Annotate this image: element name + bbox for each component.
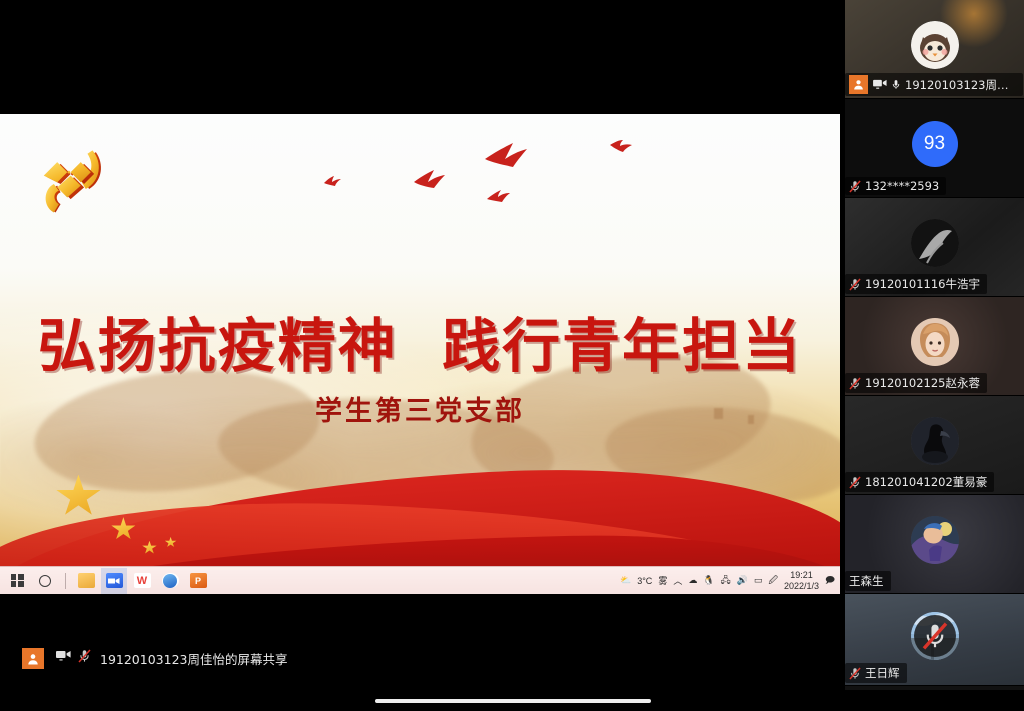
tray-temperature: 3°C [637,576,652,586]
taskbar-clock[interactable]: 19:21 2022/1/3 [784,570,819,591]
participant-tile[interactable]: 王日辉 [845,594,1024,686]
participant-namebar: 132****2593 [845,177,946,195]
screen-share-icon [56,650,71,668]
participant-name: 132****2593 [865,179,939,193]
participant-namebar: 19120102125赵永蓉 [845,373,987,393]
windows-taskbar[interactable]: W P ⛅ 3°C 雾 ︿ ☁ [0,566,840,594]
onedrive-icon[interactable]: ☁ [688,575,697,586]
participant-namebar: 王日辉 [845,663,907,683]
share-status-label: 19120103123周佳怡的屏幕共享 [100,649,287,668]
participant-name: 王森生 [849,573,884,589]
scrollbar-thumb[interactable] [375,699,651,703]
participant-namebar: 181201041202董易豪 [845,472,994,492]
share-status-bar: 19120103123周佳怡的屏幕共享 [0,641,845,676]
participant-tile[interactable]: 19120101116牛浩宇 [845,198,1024,297]
participant-namebar: 19120103123周佳… [845,73,1023,96]
tray-weather-text: 雾 [658,574,667,587]
person-badge-icon [849,75,868,94]
avatar [911,318,959,366]
flying-birds-icon [412,166,468,190]
participant-count: 93 [924,133,945,155]
flying-birds-icon [483,137,563,171]
taskbar-app-file-explorer[interactable] [73,568,99,594]
taskbar-divider [65,573,66,589]
mic-muted-icon [849,278,861,291]
meeting-screen: 弘扬抗疫精神 践行青年担当 学生第三党支部 中 ⋮ [0,0,1024,711]
participant-tile[interactable]: 93 132****2593 [845,99,1024,198]
weather-icon[interactable]: ⛅ [620,575,631,586]
volume-icon[interactable]: 🔊 [737,575,748,586]
mic-muted-icon [849,180,861,193]
clock-date: 2022/1/3 [784,581,819,591]
mic-muted-icon [849,476,861,489]
participant-tile[interactable]: 19120103123周佳… [845,0,1024,99]
participant-namebar: 王森生 [845,571,891,591]
flying-birds-icon [609,139,635,153]
notification-icon[interactable]: 🗩 [825,573,835,589]
horizontal-scrollbar[interactable] [0,691,1024,711]
participant-count-avatar: 93 [912,121,958,167]
chevron-up-icon[interactable]: ︿ [673,574,682,587]
participant-namebar: 19120101116牛浩宇 [845,274,987,294]
participant-name: 19120101116牛浩宇 [865,276,980,292]
network-icon[interactable]: 🖧 [721,573,731,589]
person-badge-icon [22,648,44,669]
battery-icon[interactable]: ▭ [754,575,763,586]
mic-muted-icon [914,615,956,657]
participant-name: 19120102125赵永蓉 [865,375,980,391]
avatar [911,516,959,564]
party-emblem-icon [32,142,116,226]
windows-start-icon[interactable] [4,568,30,594]
cortana-circle-icon[interactable] [32,568,58,594]
mic-muted-icon [849,377,861,390]
taskbar-app-wps-office[interactable]: W [129,568,155,594]
avatar [911,219,959,267]
taskbar-app-browser[interactable] [157,568,183,594]
mic-muted-icon [849,667,861,680]
avatar [911,417,959,465]
shared-screen-content[interactable]: 弘扬抗疫精神 践行青年担当 学生第三党支部 中 ⋮ [0,114,840,594]
participant-tile[interactable]: 181201041202董易豪 [845,396,1024,495]
participant-tile[interactable]: 19120102125赵永蓉 [845,297,1024,396]
participant-tile[interactable]: 王森生 [845,495,1024,594]
presentation-slide: 弘扬抗疫精神 践行青年担当 学生第三党支部 中 ⋮ [0,114,840,566]
mic-icon [891,78,901,91]
participant-name: 181201041202董易豪 [865,474,987,490]
taskbar-app-meeting-app[interactable] [101,568,127,594]
participant-strip[interactable]: 19120103123周佳… 93 132****2593 [845,0,1024,690]
slide-subtitle: 学生第三党支部 [0,389,840,428]
clock-time: 19:21 [784,570,819,580]
avatar [911,21,959,69]
participant-name: 王日辉 [865,665,900,681]
qq-penguin-icon[interactable]: 🐧 [703,575,714,586]
flying-birds-icon [323,175,345,187]
shared-screen-stage[interactable]: 弘扬抗疫精神 践行青年担当 学生第三党支部 中 ⋮ [0,0,845,676]
flying-birds-icon [486,189,516,203]
mic-muted-icon [78,649,91,668]
participant-name: 19120103123周佳… [905,77,1016,93]
screen-share-icon [873,79,887,91]
slide-title: 弘扬抗疫精神 践行青年担当 [0,299,840,383]
taskbar-app-powerpoint-doc[interactable]: P [185,568,211,594]
pin-icon[interactable]: 🖉 [768,573,778,589]
